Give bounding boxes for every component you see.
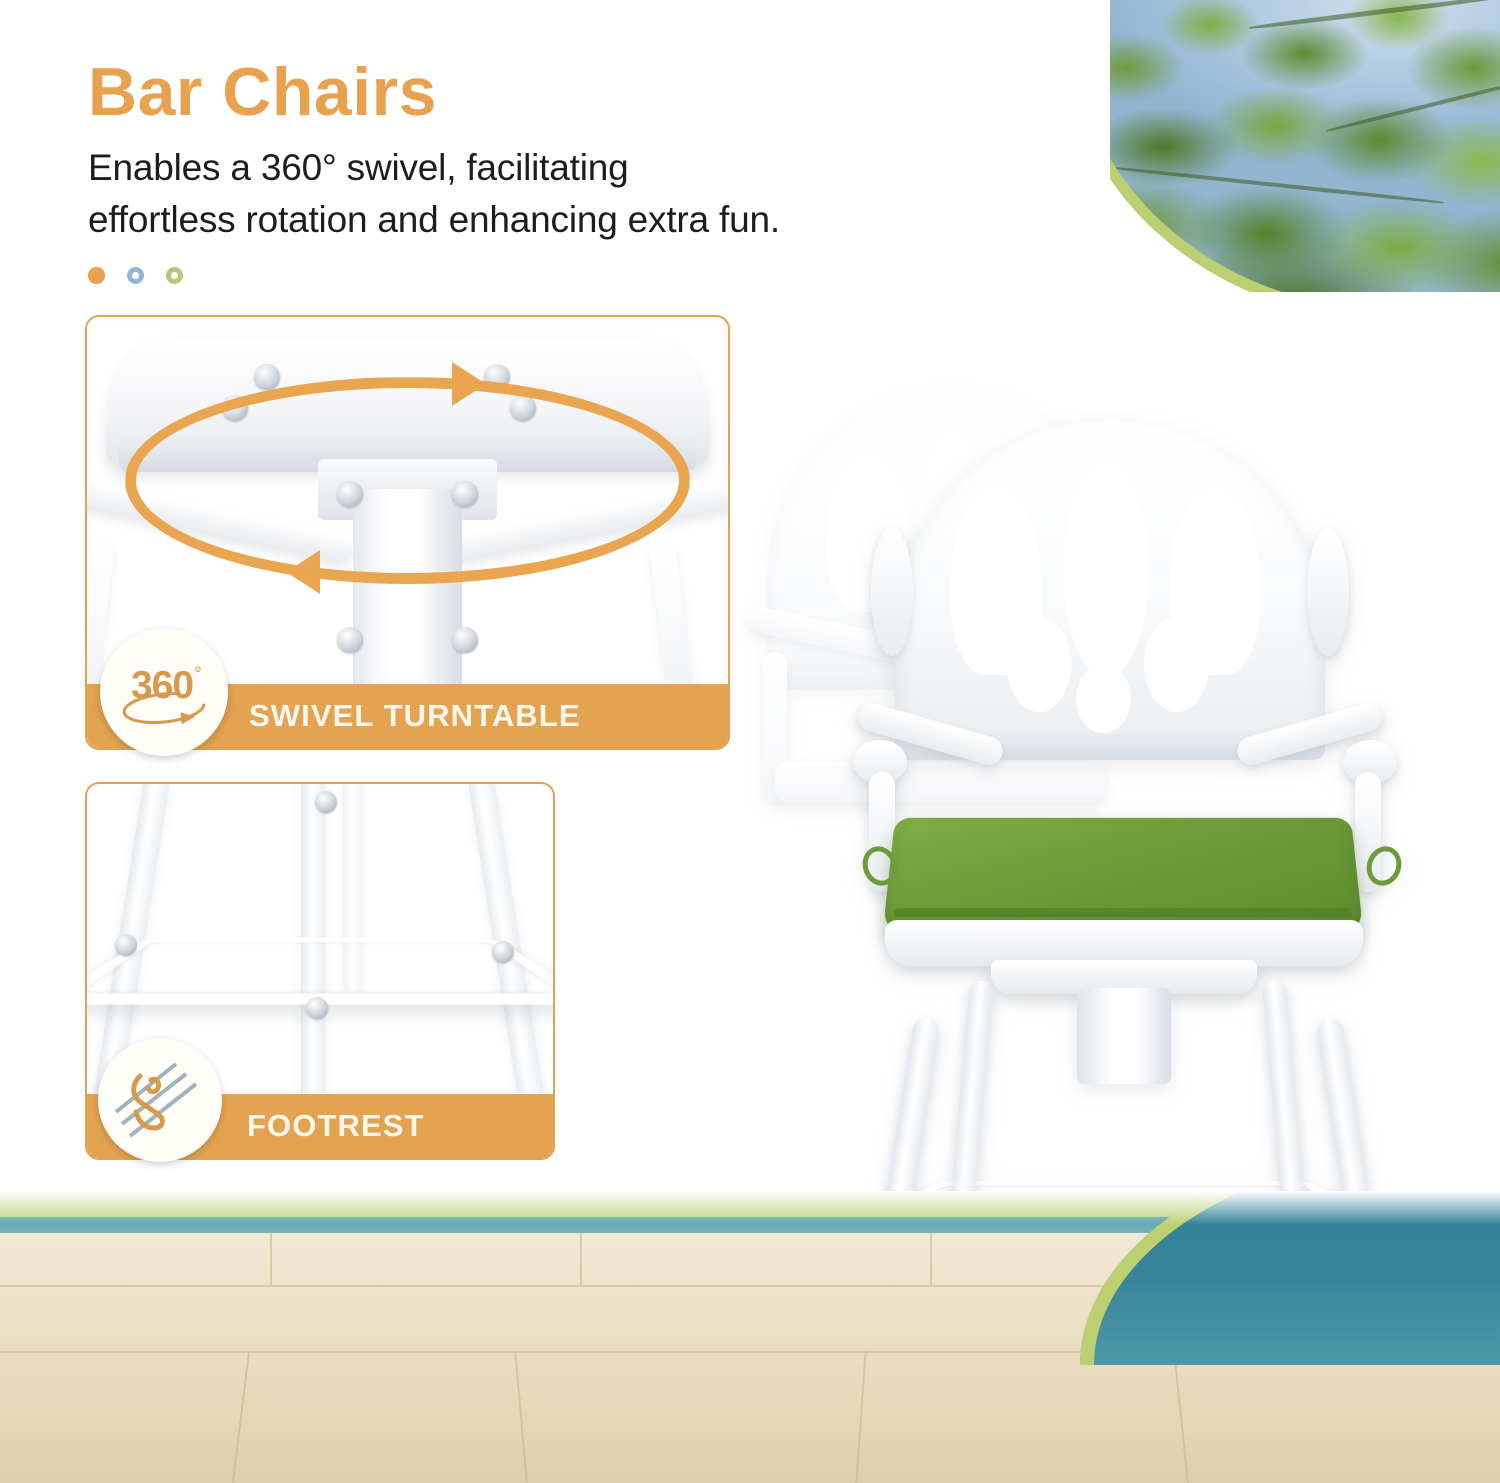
seat-bolt-1 <box>254 364 280 390</box>
stone-seam <box>855 1351 866 1483</box>
subtitle-line-1: Enables a 360° swivel, facilitating <box>88 143 1048 193</box>
footrest-screw-top <box>315 791 337 813</box>
rotation-arrow-head-bottom-icon <box>286 550 320 594</box>
footrest-screw-left <box>115 934 137 956</box>
canopy-layer <box>1110 0 1500 292</box>
badge-footrest <box>98 1038 222 1162</box>
backrest-lobe-left <box>871 528 913 656</box>
subtitle-line-2: effortless rotation and enhancing extra … <box>88 195 1048 245</box>
swivel-post <box>1077 988 1171 1084</box>
scroll-cutout <box>1063 461 1149 679</box>
foot-on-rail-icon <box>110 1050 210 1150</box>
stone-seam <box>1173 1351 1189 1482</box>
scroll-cutout <box>1076 665 1132 733</box>
dot-green-icon[interactable] <box>166 267 183 284</box>
rotation-arrow-head-top-icon <box>452 362 486 406</box>
seat-cushion <box>883 818 1364 933</box>
rotation-arrow-ellipse-icon <box>125 377 689 584</box>
chair-back-panel <box>895 420 1325 760</box>
badge-360-degree: 360 ° <box>100 628 228 756</box>
stone-seam <box>270 1233 272 1285</box>
backrest-lobe-right <box>1307 528 1349 656</box>
dot-blue-icon[interactable] <box>127 267 144 284</box>
stone-seam <box>514 1351 527 1483</box>
footrest-ring <box>87 938 553 1005</box>
footrest-banner-label: FOOTREST <box>247 1108 425 1144</box>
rotation-360-icon: 360 ° <box>112 640 216 744</box>
cushion-welting <box>894 909 1352 918</box>
stone-seam <box>580 1233 582 1285</box>
column-bolt-4 <box>452 627 478 653</box>
tree-canopy-photo <box>1110 0 1500 292</box>
scroll-cutout <box>1007 617 1072 712</box>
scene-top-fade <box>0 1191 1500 1225</box>
scene-clip <box>0 1191 1500 1483</box>
swivel-banner-label: SWIVEL TURNTABLE <box>249 698 581 734</box>
page-title: Bar Chairs <box>88 56 1048 129</box>
stone-seam <box>232 1351 250 1482</box>
pagination-dots <box>88 267 1048 284</box>
scroll-cutout <box>1144 617 1209 712</box>
product-infographic: Bar Chairs Enables a 360° swivel, facili… <box>0 0 1500 1483</box>
tree-photo-image <box>1110 0 1500 292</box>
svg-text:360: 360 <box>131 664 193 707</box>
poolside-scene <box>0 1191 1500 1483</box>
svg-text:°: ° <box>194 664 202 685</box>
header-block: Bar Chairs Enables a 360° swivel, facili… <box>88 56 1048 284</box>
dot-orange-icon[interactable] <box>88 267 105 284</box>
stone-seam <box>930 1233 932 1285</box>
